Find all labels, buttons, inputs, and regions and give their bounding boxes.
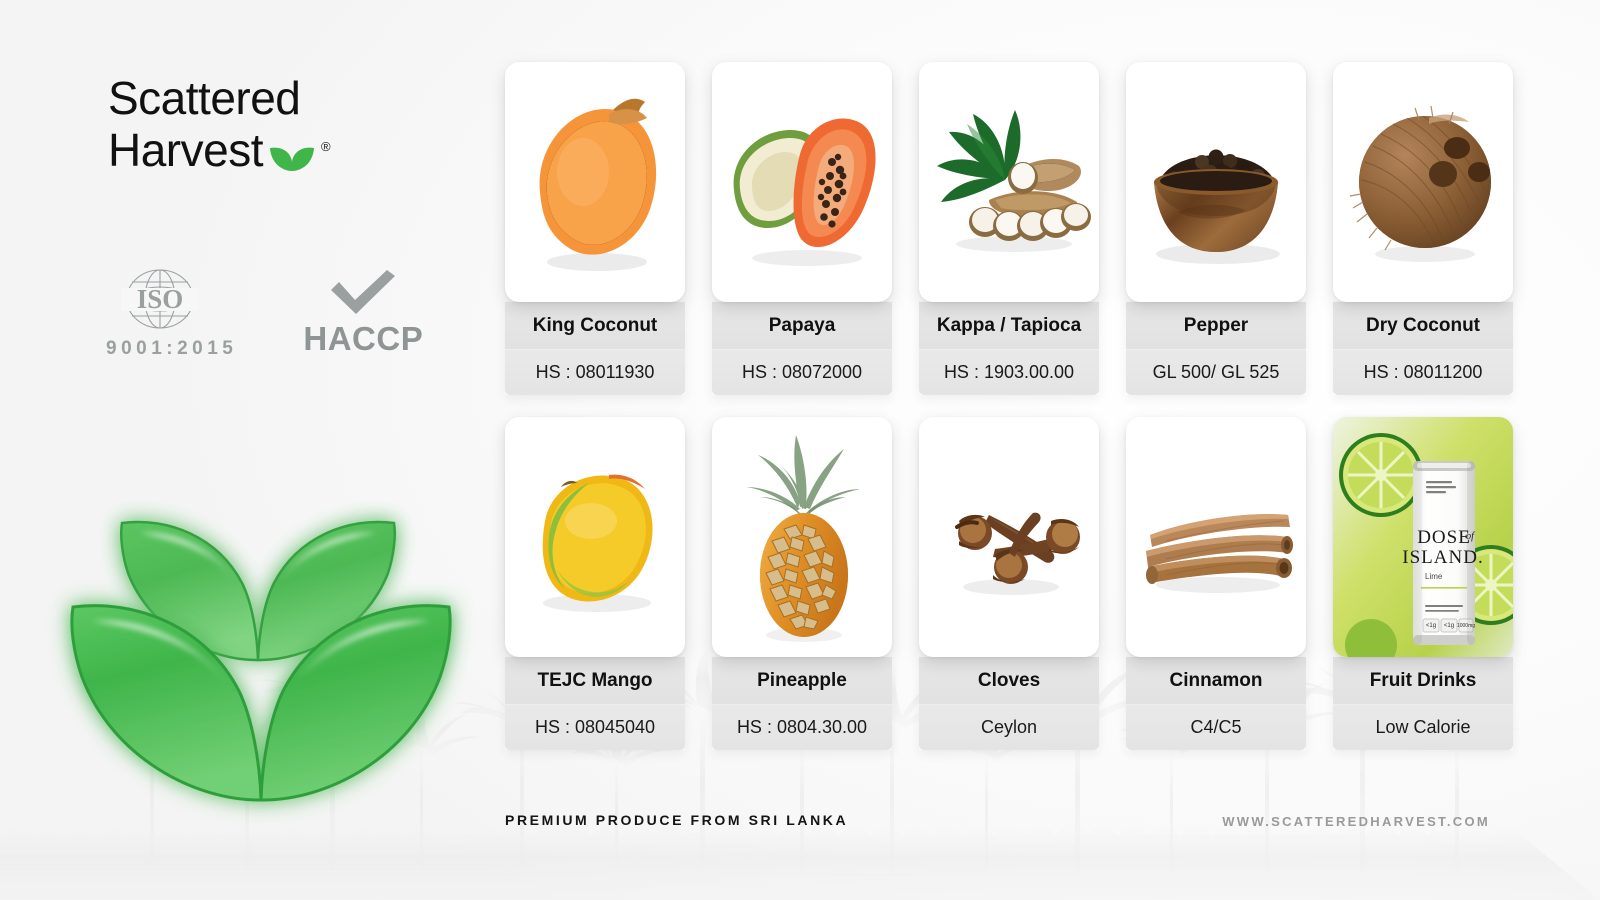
svg-text:ISO: ISO xyxy=(137,284,184,314)
product-name: Kappa / Tapioca xyxy=(919,302,1099,350)
footer-website-url[interactable]: WWW.SCATTEREDHARVEST.COM xyxy=(1222,814,1490,829)
checkmark-icon xyxy=(303,268,423,316)
brand-logo: Scattered Harvest ® xyxy=(108,72,448,176)
product-name: Pineapple xyxy=(712,657,892,705)
product-code: HS : 08045040 xyxy=(505,705,685,750)
product-name: Fruit Drinks xyxy=(1333,657,1513,705)
papaya-image xyxy=(712,62,892,302)
product-name: Cinnamon xyxy=(1126,657,1306,705)
product-card[interactable]: Pepper GL 500/ GL 525 xyxy=(1126,62,1306,417)
product-card[interactable]: King Coconut HS : 08011930 xyxy=(505,62,685,417)
haccp-badge: HACCP xyxy=(303,268,423,358)
svg-text:DOSE: DOSE xyxy=(1417,527,1471,548)
product-code: HS : 0804.30.00 xyxy=(712,705,892,750)
pepper-bowl-image xyxy=(1126,62,1306,302)
iso-badge: ISO 9001:2015 xyxy=(108,268,237,360)
product-info: Dry Coconut HS : 08011200 xyxy=(1333,302,1513,395)
product-code: HS : 1903.00.00 xyxy=(919,350,1099,395)
iso-standard-number: 9001:2015 xyxy=(106,338,237,360)
product-code: C4/C5 xyxy=(1126,705,1306,750)
iso-globe-icon: ISO xyxy=(108,268,237,330)
product-card[interactable]: Cloves Ceylon xyxy=(919,417,1099,772)
certification-badges: ISO 9001:2015 HACCP xyxy=(108,268,423,360)
sprout-leaf-icon xyxy=(269,138,315,172)
product-card[interactable]: TEJC Mango HS : 08045040 xyxy=(505,417,685,772)
cloves-image xyxy=(919,417,1099,657)
product-code: HS : 08072000 xyxy=(712,350,892,395)
product-code: GL 500/ GL 525 xyxy=(1126,350,1306,395)
product-info: Papaya HS : 08072000 xyxy=(712,302,892,395)
cinnamon-image xyxy=(1126,417,1306,657)
product-name: Papaya xyxy=(712,302,892,350)
hero-sprout-logo xyxy=(40,455,490,810)
product-card[interactable]: Papaya HS : 08072000 xyxy=(712,62,892,417)
mango-image xyxy=(505,417,685,657)
wordmark-line-2: Harvest xyxy=(108,124,263,176)
product-info: Kappa / Tapioca HS : 1903.00.00 xyxy=(919,302,1099,395)
product-name: King Coconut xyxy=(505,302,685,350)
product-info: Cloves Ceylon xyxy=(919,657,1099,750)
product-info: Fruit Drinks Low Calorie xyxy=(1333,657,1513,750)
product-name: TEJC Mango xyxy=(505,657,685,705)
product-code: Low Calorie xyxy=(1333,705,1513,750)
product-card[interactable]: Pineapple HS : 0804.30.00 xyxy=(712,417,892,772)
product-grid: King Coconut HS : 08011930 xyxy=(505,62,1513,772)
product-card[interactable]: Kappa / Tapioca HS : 1903.00.00 xyxy=(919,62,1099,417)
wordmark-line-1: Scattered xyxy=(108,72,448,124)
product-info: Pepper GL 500/ GL 525 xyxy=(1126,302,1306,395)
product-info: TEJC Mango HS : 08045040 xyxy=(505,657,685,750)
product-code: HS : 08011930 xyxy=(505,350,685,395)
product-info: Cinnamon C4/C5 xyxy=(1126,657,1306,750)
tapioca-image xyxy=(919,62,1099,302)
product-card[interactable]: DOSE of ISLAND. Lime <1 xyxy=(1333,417,1513,772)
product-card[interactable]: Cinnamon C4/C5 xyxy=(1126,417,1306,772)
registered-trademark-symbol: ® xyxy=(321,139,331,154)
product-name: Pepper xyxy=(1126,302,1306,350)
product-name: Cloves xyxy=(919,657,1099,705)
svg-text:Lime: Lime xyxy=(1425,572,1443,581)
product-name: Dry Coconut xyxy=(1333,302,1513,350)
product-code: Ceylon xyxy=(919,705,1099,750)
product-info: King Coconut HS : 08011930 xyxy=(505,302,685,395)
footer-tagline: PREMIUM PRODUCE FROM SRI LANKA xyxy=(505,812,848,828)
fruit-drink-can-image: DOSE of ISLAND. Lime <1 xyxy=(1333,417,1513,657)
product-card[interactable]: Dry Coconut HS : 08011200 xyxy=(1333,62,1513,417)
svg-text:<1g: <1g xyxy=(1426,623,1436,629)
wordmark: Scattered Harvest ® xyxy=(108,72,448,176)
pineapple-image xyxy=(712,417,892,657)
dry-coconut-image xyxy=(1333,62,1513,302)
product-info: Pineapple HS : 0804.30.00 xyxy=(712,657,892,750)
poster-canvas: Scattered Harvest ® xyxy=(0,0,1600,900)
product-code: HS : 08011200 xyxy=(1333,350,1513,395)
svg-text:<1g: <1g xyxy=(1444,623,1454,629)
haccp-label: HACCP xyxy=(303,320,423,358)
king-coconut-image xyxy=(505,62,685,302)
